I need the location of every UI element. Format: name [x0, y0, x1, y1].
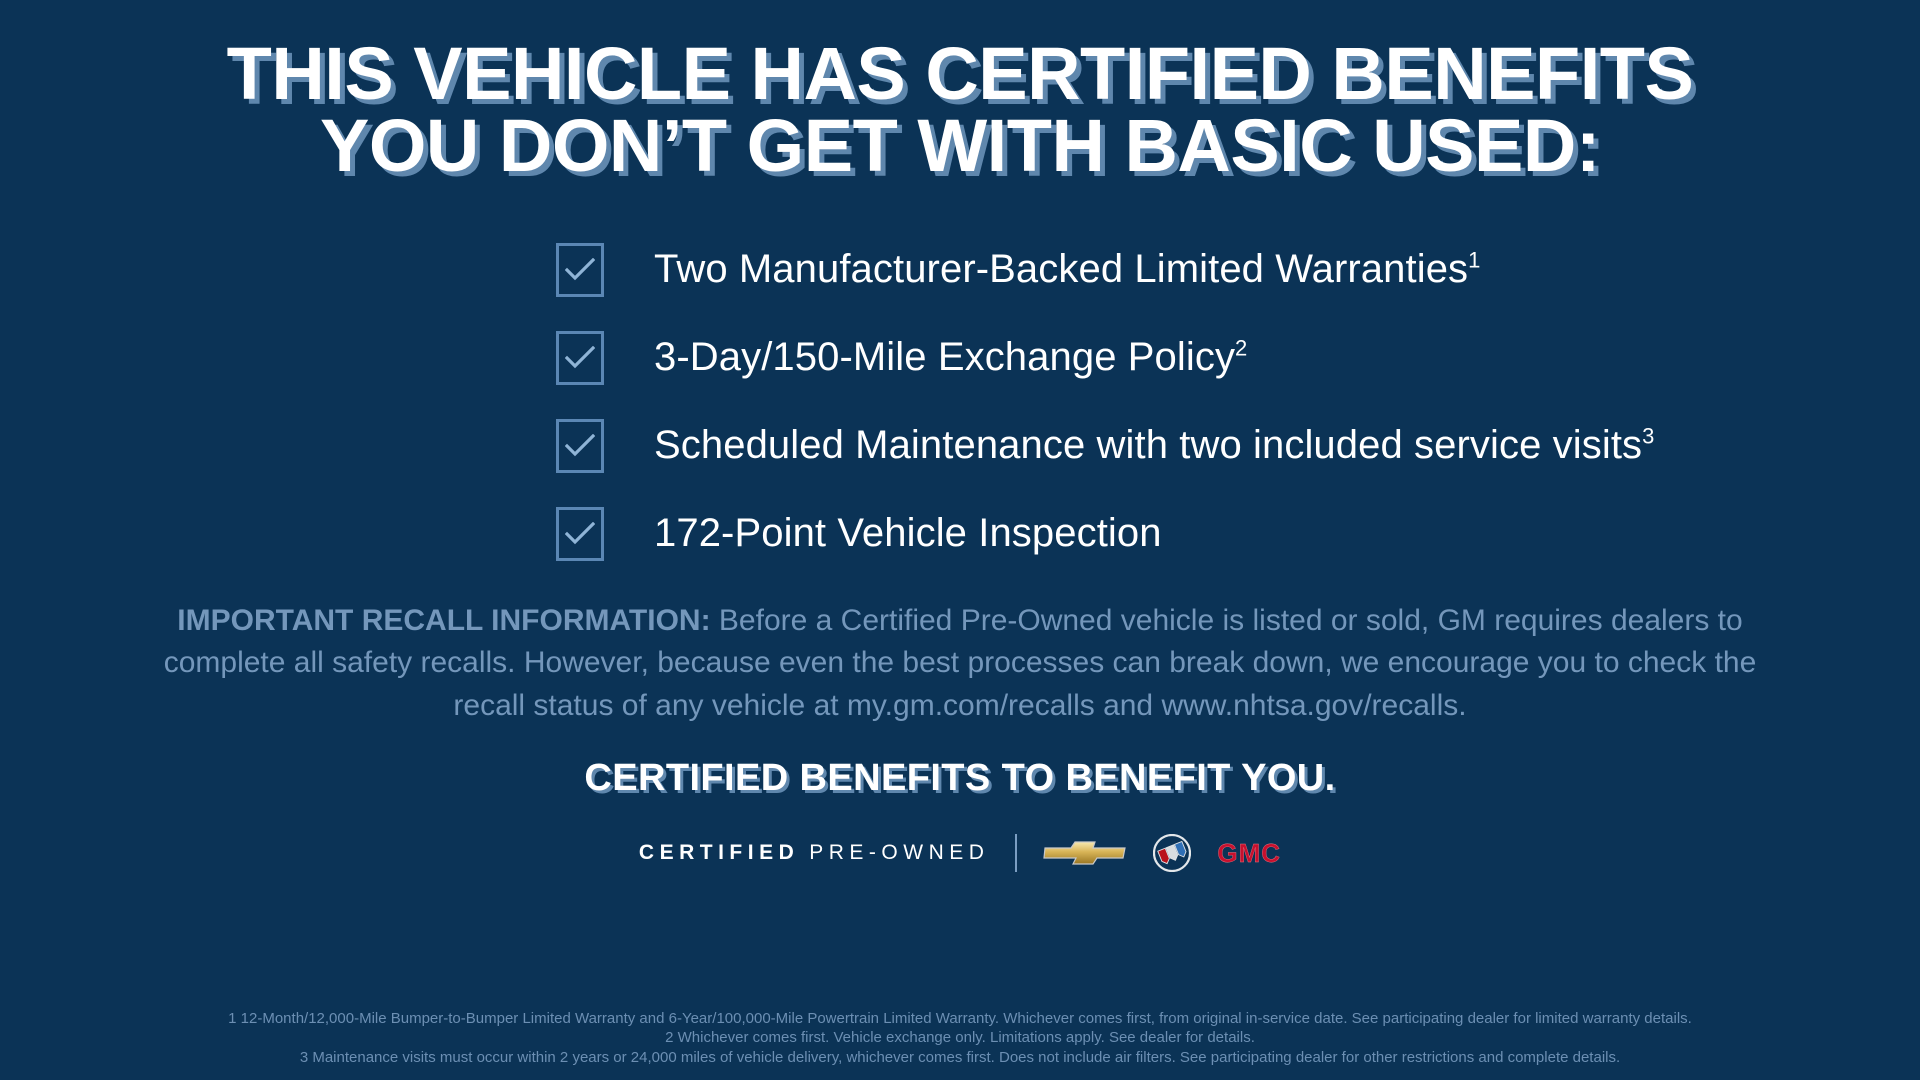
benefits-list: Two Manufacturer-Backed Limited Warranti… [260, 226, 1660, 578]
list-item: Scheduled Maintenance with two included … [556, 402, 1660, 490]
checkbox-checked-icon [556, 243, 604, 297]
footnote-marker: 2 [1235, 336, 1247, 361]
benefit-label: 172-Point Vehicle Inspection [654, 511, 1162, 556]
benefit-label: Two Manufacturer-Backed Limited Warranti… [654, 247, 1481, 292]
benefit-text: Two Manufacturer-Backed Limited Warranti… [654, 247, 1468, 291]
benefit-text: Scheduled Maintenance with two included … [654, 423, 1642, 467]
footnote-marker: 3 [1642, 424, 1654, 449]
footnote-marker: 1 [1468, 248, 1480, 273]
list-item: 3-Day/150-Mile Exchange Policy2 [556, 314, 1660, 402]
headline-line-2: YOU DON’T GET WITH BASIC USED: [227, 110, 1694, 182]
headline-line-1: THIS VEHICLE HAS CERTIFIED BENEFITS [227, 38, 1694, 110]
certified-pre-owned-wordmark: CERTIFIED PRE-OWNED [639, 841, 990, 865]
recall-heading: IMPORTANT RECALL INFORMATION: [177, 604, 710, 637]
benefit-label: 3-Day/150-Mile Exchange Policy2 [654, 335, 1247, 380]
brand-logo-bar: CERTIFIED PRE-OWNED [639, 834, 1281, 872]
buick-trishield-logo [1153, 834, 1191, 872]
preowned-word: PRE-OWNED [809, 841, 989, 865]
footnote-1: 1 12-Month/12,000-Mile Bumper-to-Bumper … [0, 1009, 1920, 1029]
list-item: 172-Point Vehicle Inspection [556, 490, 1660, 578]
certified-word: CERTIFIED [639, 841, 799, 865]
benefit-text: 172-Point Vehicle Inspection [654, 511, 1162, 555]
recall-information: IMPORTANT RECALL INFORMATION: Before a C… [160, 600, 1760, 728]
brand-logos: GMC [1043, 834, 1281, 872]
checkbox-checked-icon [556, 419, 604, 473]
footnotes: 1 12-Month/12,000-Mile Bumper-to-Bumper … [0, 1009, 1920, 1068]
footnote-2: 2 Whichever comes first. Vehicle exchang… [0, 1028, 1920, 1048]
checkbox-checked-icon [556, 507, 604, 561]
vertical-divider [1015, 834, 1017, 872]
benefit-label: Scheduled Maintenance with two included … [654, 423, 1654, 468]
checkbox-checked-icon [556, 331, 604, 385]
benefit-text: 3-Day/150-Mile Exchange Policy [654, 335, 1235, 379]
list-item: Two Manufacturer-Backed Limited Warranti… [556, 226, 1660, 314]
chevrolet-bowtie-logo [1043, 838, 1127, 868]
tagline: CERTIFIED BENEFITS TO BENEFIT YOU. [584, 757, 1335, 800]
page-title: THIS VEHICLE HAS CERTIFIED BENEFITS YOU … [227, 38, 1694, 182]
gmc-logo: GMC [1217, 838, 1281, 869]
footnote-3: 3 Maintenance visits must occur within 2… [0, 1048, 1920, 1068]
certified-pre-owned-poster: THIS VEHICLE HAS CERTIFIED BENEFITS YOU … [0, 0, 1920, 1080]
